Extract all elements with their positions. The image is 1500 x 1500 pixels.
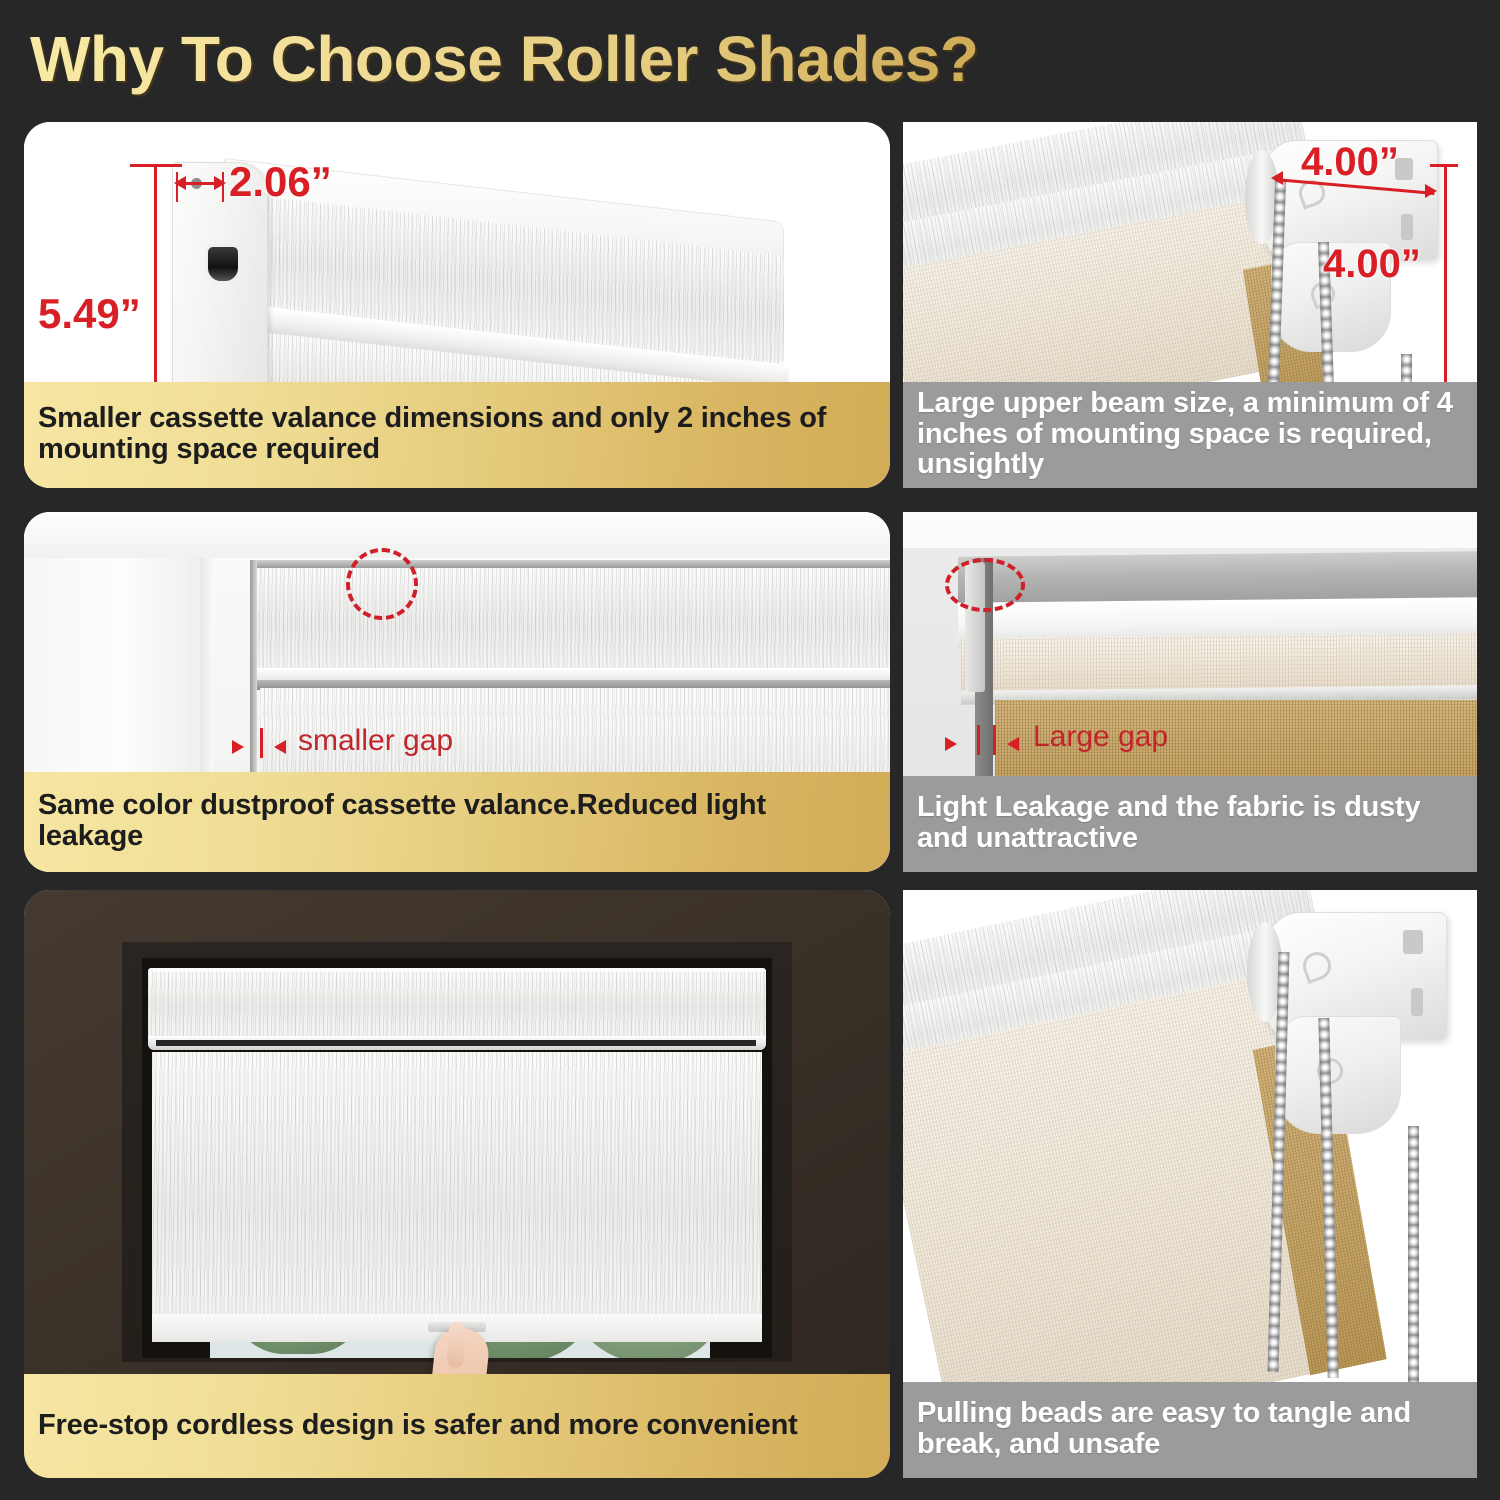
index-finger: [446, 1321, 466, 1368]
panel-light-leakage: Large gap Light Leakage and the fabric i…: [903, 512, 1477, 872]
gap-callout-label: Large gap: [1033, 720, 1168, 754]
bracket-notch-2: [1411, 988, 1423, 1016]
gap-tick-right: [993, 725, 996, 755]
panel-2-caption: Large upper beam size, a minimum of 4 in…: [903, 382, 1477, 488]
gap-arrow-right-icon: [232, 740, 244, 754]
gap-tick: [260, 728, 263, 758]
width-arrow-right-icon: [214, 176, 226, 190]
bead-chain-3: [1408, 1126, 1419, 1382]
panel-dustproof-cassette: smaller gap Same color dustproof cassett…: [24, 512, 890, 872]
shade-fabric: [152, 1052, 762, 1342]
window-frame-top: [24, 512, 890, 558]
gap-callout-label: smaller gap: [298, 724, 453, 758]
height-dim-tick-top: [130, 164, 182, 167]
gap-arrow-left-icon: [1007, 737, 1019, 751]
width-arrow-right-icon: [1425, 184, 1437, 198]
bracket-notch-1: [1403, 930, 1423, 954]
width-dimension-label: 4.00”: [1301, 140, 1399, 185]
height-dimension-label: 4.00”: [1323, 242, 1421, 287]
bracket-slot: [205, 244, 241, 284]
gap-arrow-left-icon: [274, 740, 286, 754]
gap-tick-left: [977, 725, 980, 755]
panel-smaller-cassette: 2.06” 5.49” Smaller cassette valance dim…: [24, 122, 890, 488]
panel-large-upper-beam: 4.00” 4.00” Large upper beam size, a min…: [903, 122, 1477, 488]
panel-5-caption: Free-stop cordless design is safer and m…: [24, 1374, 890, 1478]
width-dimension-label: 2.06”: [229, 158, 332, 206]
panel-pulling-beads: Pulling beads are easy to tangle and bre…: [903, 890, 1477, 1478]
panel-3-caption: Same color dustproof cassette valance.Re…: [24, 772, 890, 872]
panel-6-caption: Pulling beads are easy to tangle and bre…: [903, 1382, 1477, 1478]
cassette-texture: [148, 972, 766, 1036]
page-title: Why To Choose Roller Shades?: [30, 16, 1230, 102]
height-dim-tick-top: [1430, 164, 1458, 167]
panel-cordless-design: Free-stop cordless design is safer and m…: [24, 890, 890, 1478]
width-arrow-left-icon: [1271, 171, 1283, 185]
height-dimension-label: 5.49”: [38, 290, 141, 338]
height-dim-line: [1444, 164, 1447, 416]
gap-arrow-right-icon: [945, 737, 957, 751]
cassette-slot: [156, 1040, 756, 1046]
bracket-notch-2: [1401, 214, 1413, 240]
panel-1-caption: Smaller cassette valance dimensions and …: [24, 382, 890, 488]
infographic-page: Why To Choose Roller Shades? 2.06”: [0, 0, 1500, 1500]
panel-4-caption: Light Leakage and the fabric is dusty an…: [903, 776, 1477, 872]
top-white-band: [903, 512, 1477, 548]
highlight-circle: [346, 548, 418, 620]
width-arrow-left-icon: [174, 176, 186, 190]
highlight-circle: [945, 558, 1025, 612]
